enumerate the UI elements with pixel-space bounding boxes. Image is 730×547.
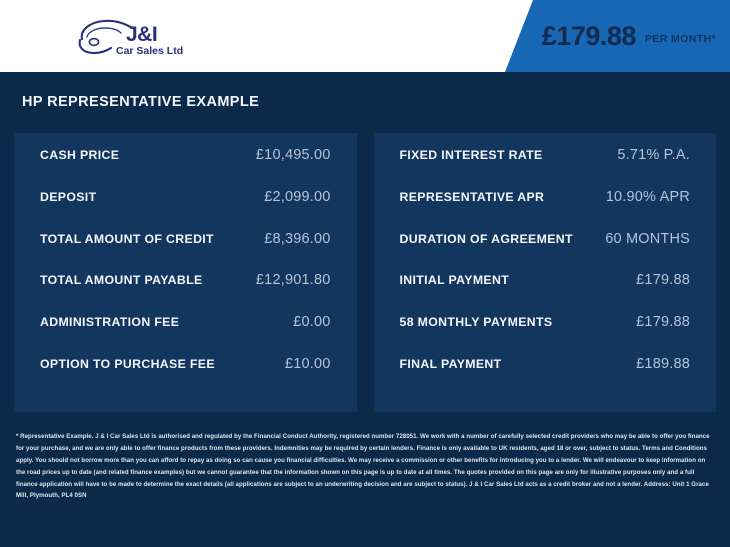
- row-label: TOTAL AMOUNT OF CREDIT: [40, 232, 214, 246]
- row-label: 58 MONTHLY PAYMENTS: [400, 315, 553, 329]
- price-suffix: PER MONTH*: [645, 33, 716, 45]
- table-row: DURATION OF AGREEMENT 60 MONTHS: [400, 231, 691, 273]
- svg-text:J&I: J&I: [126, 23, 157, 46]
- table-row: ADMINISTRATION FEE £0.00: [40, 314, 331, 356]
- row-value: 5.71% P.A.: [617, 147, 690, 163]
- car-swoosh-icon: J&I Car Sales Ltd: [74, 17, 199, 59]
- row-value: 10.90% APR: [606, 189, 690, 205]
- table-row: INITIAL PAYMENT £179.88: [400, 272, 691, 314]
- company-logo[interactable]: J&I Car Sales Ltd: [74, 17, 199, 59]
- finance-summary-right: FIXED INTEREST RATE 5.71% P.A. REPRESENT…: [374, 133, 717, 412]
- hp-representative-example-page: J&I Car Sales Ltd £179.88 PER MONTH* HP …: [0, 0, 730, 547]
- row-label: INITIAL PAYMENT: [400, 273, 510, 287]
- table-row: TOTAL AMOUNT PAYABLE £12,901.80: [40, 272, 331, 314]
- row-label: DEPOSIT: [40, 190, 96, 204]
- row-value: £0.00: [293, 314, 330, 330]
- price-amount: £179.88: [542, 23, 636, 50]
- page-title: HP REPRESENTATIVE EXAMPLE: [22, 94, 259, 110]
- disclaimer-text: * Representative Example. J & I Car Sale…: [16, 431, 716, 502]
- finance-panels: CASH PRICE £10,495.00 DEPOSIT £2,099.00 …: [14, 133, 716, 412]
- row-value: £12,901.80: [256, 272, 331, 288]
- svg-text:Car Sales Ltd: Car Sales Ltd: [116, 45, 183, 57]
- row-value: £10,495.00: [256, 147, 331, 163]
- table-row: REPRESENTATIVE APR 10.90% APR: [400, 189, 691, 231]
- table-row: FINAL PAYMENT £189.88: [400, 356, 691, 398]
- row-label: TOTAL AMOUNT PAYABLE: [40, 273, 203, 287]
- row-value: £2,099.00: [264, 189, 330, 205]
- row-label: FINAL PAYMENT: [400, 357, 502, 371]
- monthly-price: £179.88 PER MONTH*: [542, 0, 716, 72]
- row-value: £189.88: [636, 356, 690, 372]
- page-header: J&I Car Sales Ltd £179.88 PER MONTH*: [0, 0, 730, 72]
- row-label: FIXED INTEREST RATE: [400, 148, 543, 162]
- table-row: CASH PRICE £10,495.00: [40, 147, 331, 189]
- table-row: 58 MONTHLY PAYMENTS £179.88: [400, 314, 691, 356]
- table-row: DEPOSIT £2,099.00: [40, 189, 331, 231]
- row-label: REPRESENTATIVE APR: [400, 190, 545, 204]
- row-value: 60 MONTHS: [605, 231, 690, 247]
- row-label: DURATION OF AGREEMENT: [400, 232, 573, 246]
- row-value: £179.88: [636, 314, 690, 330]
- table-row: OPTION TO PURCHASE FEE £10.00: [40, 356, 331, 398]
- row-value: £10.00: [285, 356, 331, 372]
- row-value: £8,396.00: [264, 231, 330, 247]
- table-row: TOTAL AMOUNT OF CREDIT £8,396.00: [40, 231, 331, 273]
- row-label: ADMINISTRATION FEE: [40, 315, 179, 329]
- row-label: CASH PRICE: [40, 148, 119, 162]
- table-row: FIXED INTEREST RATE 5.71% P.A.: [400, 147, 691, 189]
- finance-summary-left: CASH PRICE £10,495.00 DEPOSIT £2,099.00 …: [14, 133, 357, 412]
- row-label: OPTION TO PURCHASE FEE: [40, 357, 215, 371]
- row-value: £179.88: [636, 272, 690, 288]
